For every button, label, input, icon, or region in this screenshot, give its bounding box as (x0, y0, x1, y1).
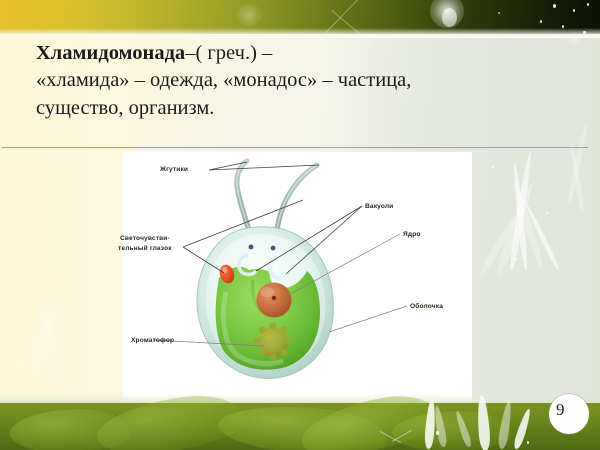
banner-fade (0, 28, 600, 38)
label-eyespot-line2: тельный глазок (118, 244, 172, 254)
label-nucleus: Ядро (403, 230, 421, 240)
page-number: 9 (556, 400, 565, 420)
title-divider (2, 147, 588, 148)
title-term: Хламидомонада (36, 42, 185, 64)
title-line-1: Хламидомонада–( греч.) – (36, 40, 566, 67)
title-line-1-rest: –( греч.) – (185, 42, 272, 64)
title-line-2: «хламида» – одежда, «монадос» – частица, (36, 67, 566, 94)
slide: Хламидомонада–( греч.) – «хламида» – оде… (0, 0, 600, 450)
diagram-panel: Жгутики Светочувстви- тельный глазок Вак… (123, 152, 472, 405)
label-eyespot-line1: Светочувстви- (120, 234, 170, 244)
slide-title: Хламидомонада–( греч.) – «хламида» – оде… (36, 40, 566, 122)
title-line-3: существо, организм. (36, 95, 566, 122)
nucleus (257, 283, 292, 318)
label-flagella: Жгутики (160, 165, 188, 175)
label-chromatophore: Хроматофор (131, 336, 174, 346)
label-vacuoles: Вакуоли (365, 202, 393, 212)
label-envelope: Оболочка (410, 302, 443, 312)
chlamydomonas-diagram (123, 152, 472, 405)
page-number-badge: 9 (549, 394, 589, 434)
footer-band (0, 403, 600, 450)
